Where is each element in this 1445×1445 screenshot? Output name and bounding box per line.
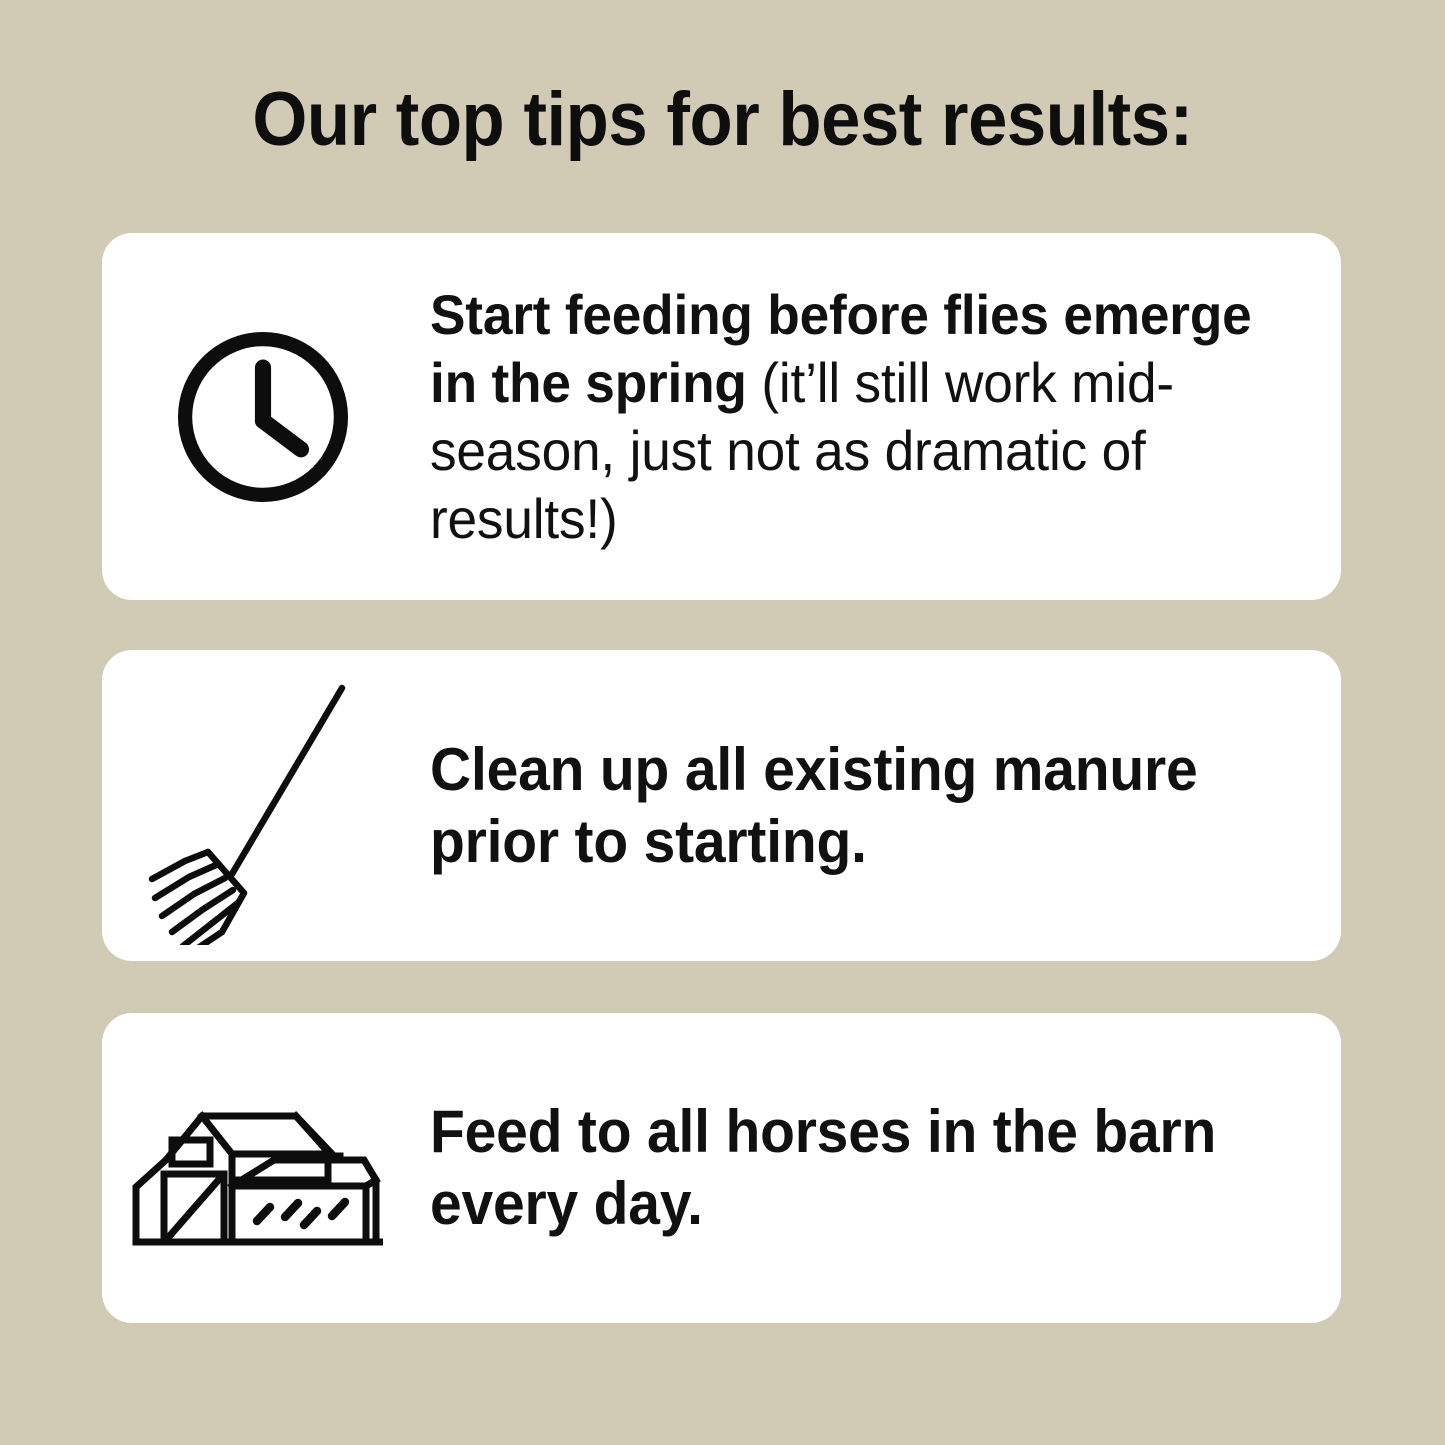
tip-card-3-text: Feed to all horses in the barn every day… [430, 1096, 1295, 1240]
tip-card-2: Clean up all existing manure prior to st… [102, 650, 1341, 961]
tip-card-1-icon-slot [102, 233, 430, 600]
tip-card-2-bold-text: Clean up all existing manure prior to st… [430, 736, 1198, 875]
tip-card-1: Start feeding before flies emerge in the… [102, 233, 1341, 600]
tip-card-2-text: Clean up all existing manure prior to st… [430, 734, 1295, 878]
tip-card-2-icon-slot [102, 650, 430, 961]
tips-poster: Our top tips for best results: Start fee… [0, 0, 1445, 1445]
barn-icon [128, 1090, 383, 1255]
tip-card-3: Feed to all horses in the barn every day… [102, 1013, 1341, 1323]
tip-card-1-text: Start feeding before flies emerge in the… [430, 281, 1295, 553]
tip-card-3-bold-text: Feed to all horses in the barn every day… [430, 1098, 1216, 1237]
tip-card-3-icon-slot [102, 1013, 430, 1323]
clock-icon [168, 322, 358, 512]
page-title: Our top tips for best results: [51, 78, 1395, 162]
pitchfork-icon [136, 680, 366, 945]
